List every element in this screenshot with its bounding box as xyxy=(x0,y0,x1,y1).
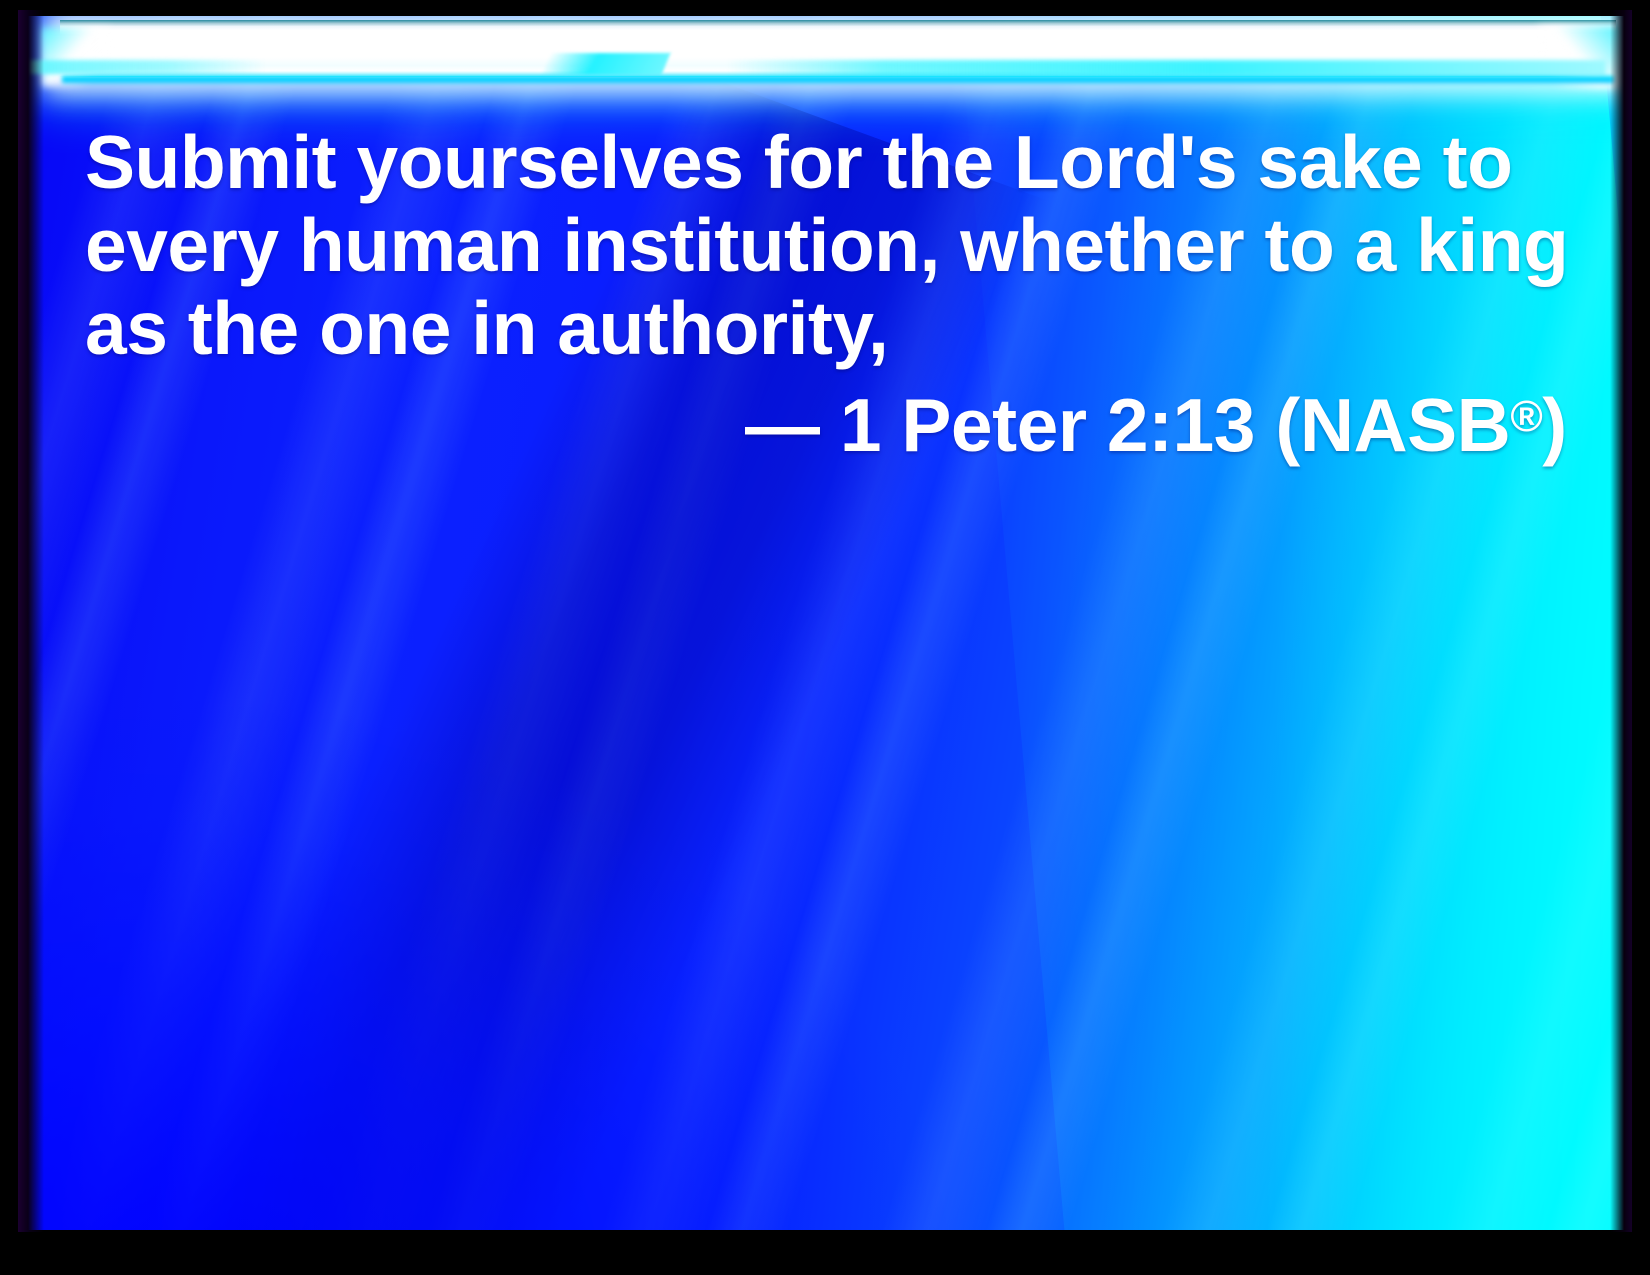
glow-bar-wisp-right xyxy=(726,60,1606,76)
glow-bar-wisp-left xyxy=(26,60,266,74)
glow-bar-hairline xyxy=(60,20,1616,26)
glow-bar-underglow xyxy=(62,76,1614,85)
verse-slide: Submit yourselves for the Lord's sake to… xyxy=(0,0,1650,1275)
top-glow-bar xyxy=(26,16,1626,94)
background-cyan-right-edge xyxy=(957,16,1626,1230)
glow-bar-wisp-center xyxy=(542,53,671,75)
slide-background-art xyxy=(26,16,1626,1230)
